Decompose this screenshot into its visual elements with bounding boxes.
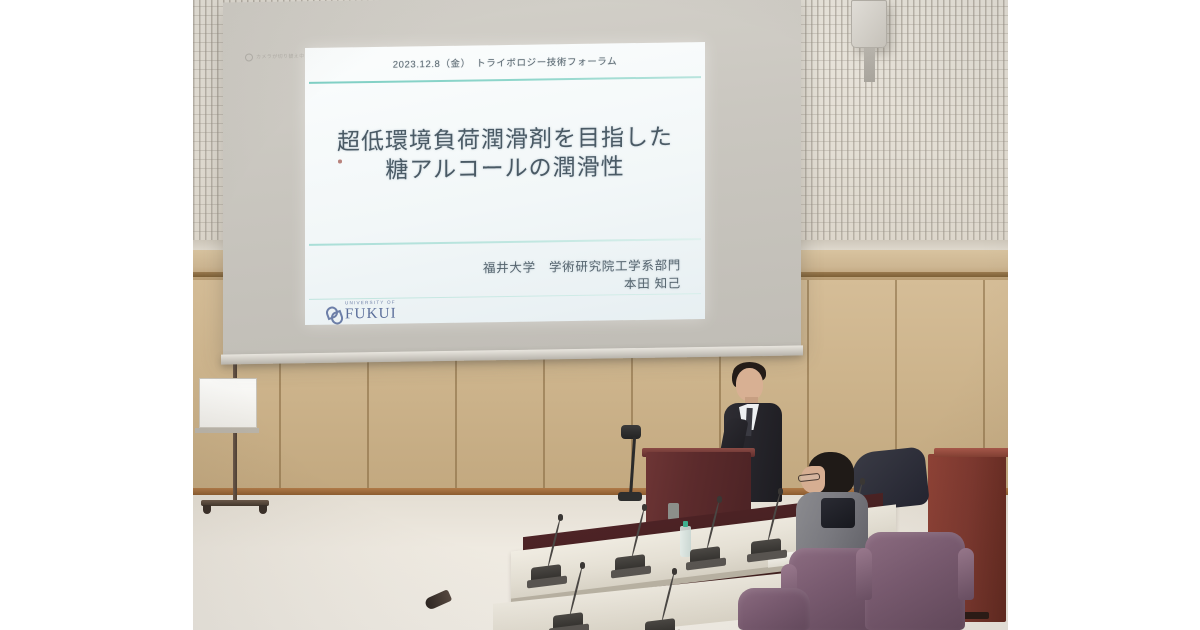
podium-mic-head — [621, 425, 641, 439]
slide-title-line-2: 糖アルコールの潤滑性 — [305, 151, 705, 186]
watermark-label: カメラが切り替え中 — [256, 53, 305, 61]
chair — [738, 588, 810, 630]
whiteboard-tray — [195, 428, 259, 433]
wall-speaker — [851, 0, 887, 48]
whiteboard-caster — [259, 505, 267, 514]
chair-arm — [958, 548, 974, 600]
podium-mic-base — [618, 492, 642, 501]
slide-title: 超低環境負荷潤滑剤を目指した 糖アルコールの潤滑性 — [305, 122, 705, 186]
screenshot-root: カメラが切り替え中 2023.12.8（金） トライボロジー技術フォーラム 超低… — [0, 0, 1200, 630]
mic-capsule — [642, 504, 647, 511]
mic-capsule — [778, 488, 783, 495]
chair — [865, 532, 965, 630]
mic-capsule — [580, 562, 585, 569]
title-bullet-dot — [338, 159, 342, 163]
mic-capsule — [717, 496, 722, 503]
slide-presenter-name: 本田 知己 — [483, 275, 681, 296]
slide-author-block: 福井大学 学術研究院工学系部門 本田 知己 — [483, 256, 681, 295]
projector-watermark: カメラが切り替え中 — [245, 50, 309, 62]
bag-on-chair — [821, 498, 855, 528]
whiteboard-on-stand — [199, 378, 257, 428]
slide-middle-rule — [309, 238, 701, 245]
logo-maintext: FUKUI — [345, 307, 397, 323]
projected-slide: 2023.12.8（金） トライボロジー技術フォーラム 超低環境負荷潤滑剤を目指… — [305, 42, 705, 325]
university-logo: UNIVERSITY OF FUKUI — [325, 301, 397, 323]
fukui-emblem-icon — [325, 303, 342, 322]
mic-capsule — [558, 514, 563, 521]
logo-wordmark: UNIVERSITY OF FUKUI — [345, 301, 397, 322]
conference-photo: カメラが切り替え中 2023.12.8（金） トライボロジー技術フォーラム 超低… — [193, 0, 1008, 630]
watermark-ring-icon — [245, 53, 253, 61]
mic-capsule — [672, 568, 677, 575]
chair-arm — [856, 548, 872, 600]
slide-date-and-event: 2023.12.8（金） トライボロジー技術フォーラム — [393, 53, 617, 70]
whiteboard-caster — [203, 505, 211, 514]
slide-title-line-1: 超低環境負荷潤滑剤を目指した — [305, 122, 705, 157]
